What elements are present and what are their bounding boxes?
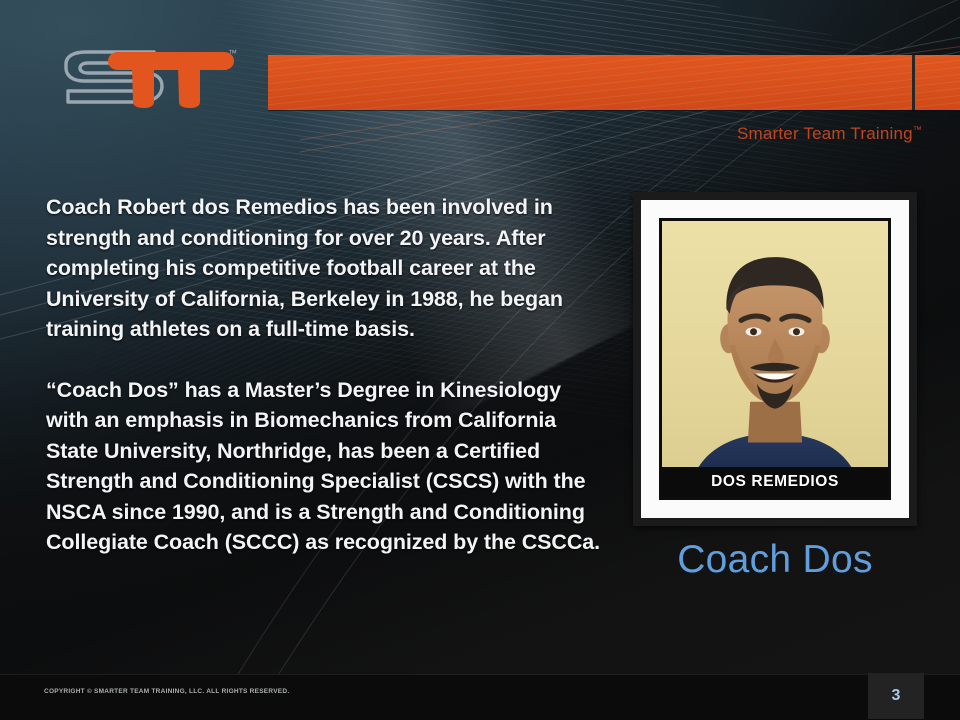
- body-copy: Coach Robert dos Remedios has been invol…: [46, 192, 606, 558]
- body-paragraph-1: Coach Robert dos Remedios has been invol…: [46, 192, 606, 345]
- logo-trademark-symbol: ™: [228, 48, 237, 58]
- photo-card: DOS REMEDIOS: [633, 192, 917, 526]
- photo-caption: Coach Dos: [633, 537, 917, 583]
- footer-bar: COPYRIGHT © SMARTER TEAM TRAINING, LLC. …: [0, 674, 960, 720]
- page-number-badge: 3: [868, 673, 924, 719]
- page-number-text: 3: [892, 687, 901, 705]
- slide-canvas: ™ Smarter Team Training™ Coach Robert do…: [0, 0, 960, 720]
- photo-frame: DOS REMEDIOS: [659, 218, 891, 500]
- header-tagline-text: Smarter Team Training: [737, 124, 913, 143]
- portrait-image: [662, 221, 888, 500]
- stt-logo[interactable]: ™: [58, 44, 238, 116]
- header-accent-bar-divider: [912, 55, 915, 110]
- header-tagline: Smarter Team Training™: [737, 124, 922, 144]
- body-paragraph-2: “Coach Dos” has a Master’s Degree in Kin…: [46, 375, 606, 558]
- photo-name-plate: DOS REMEDIOS: [662, 467, 888, 497]
- header-accent-bar-sheen: [268, 55, 960, 110]
- header-accent-bar: [268, 55, 960, 110]
- stt-logo-mark: [58, 44, 238, 116]
- photo-mat: DOS REMEDIOS: [641, 200, 909, 518]
- copyright-text: COPYRIGHT © SMARTER TEAM TRAINING, LLC. …: [44, 688, 289, 695]
- header-tagline-trademark: ™: [913, 124, 922, 134]
- photo-name-plate-text: DOS REMEDIOS: [711, 473, 839, 491]
